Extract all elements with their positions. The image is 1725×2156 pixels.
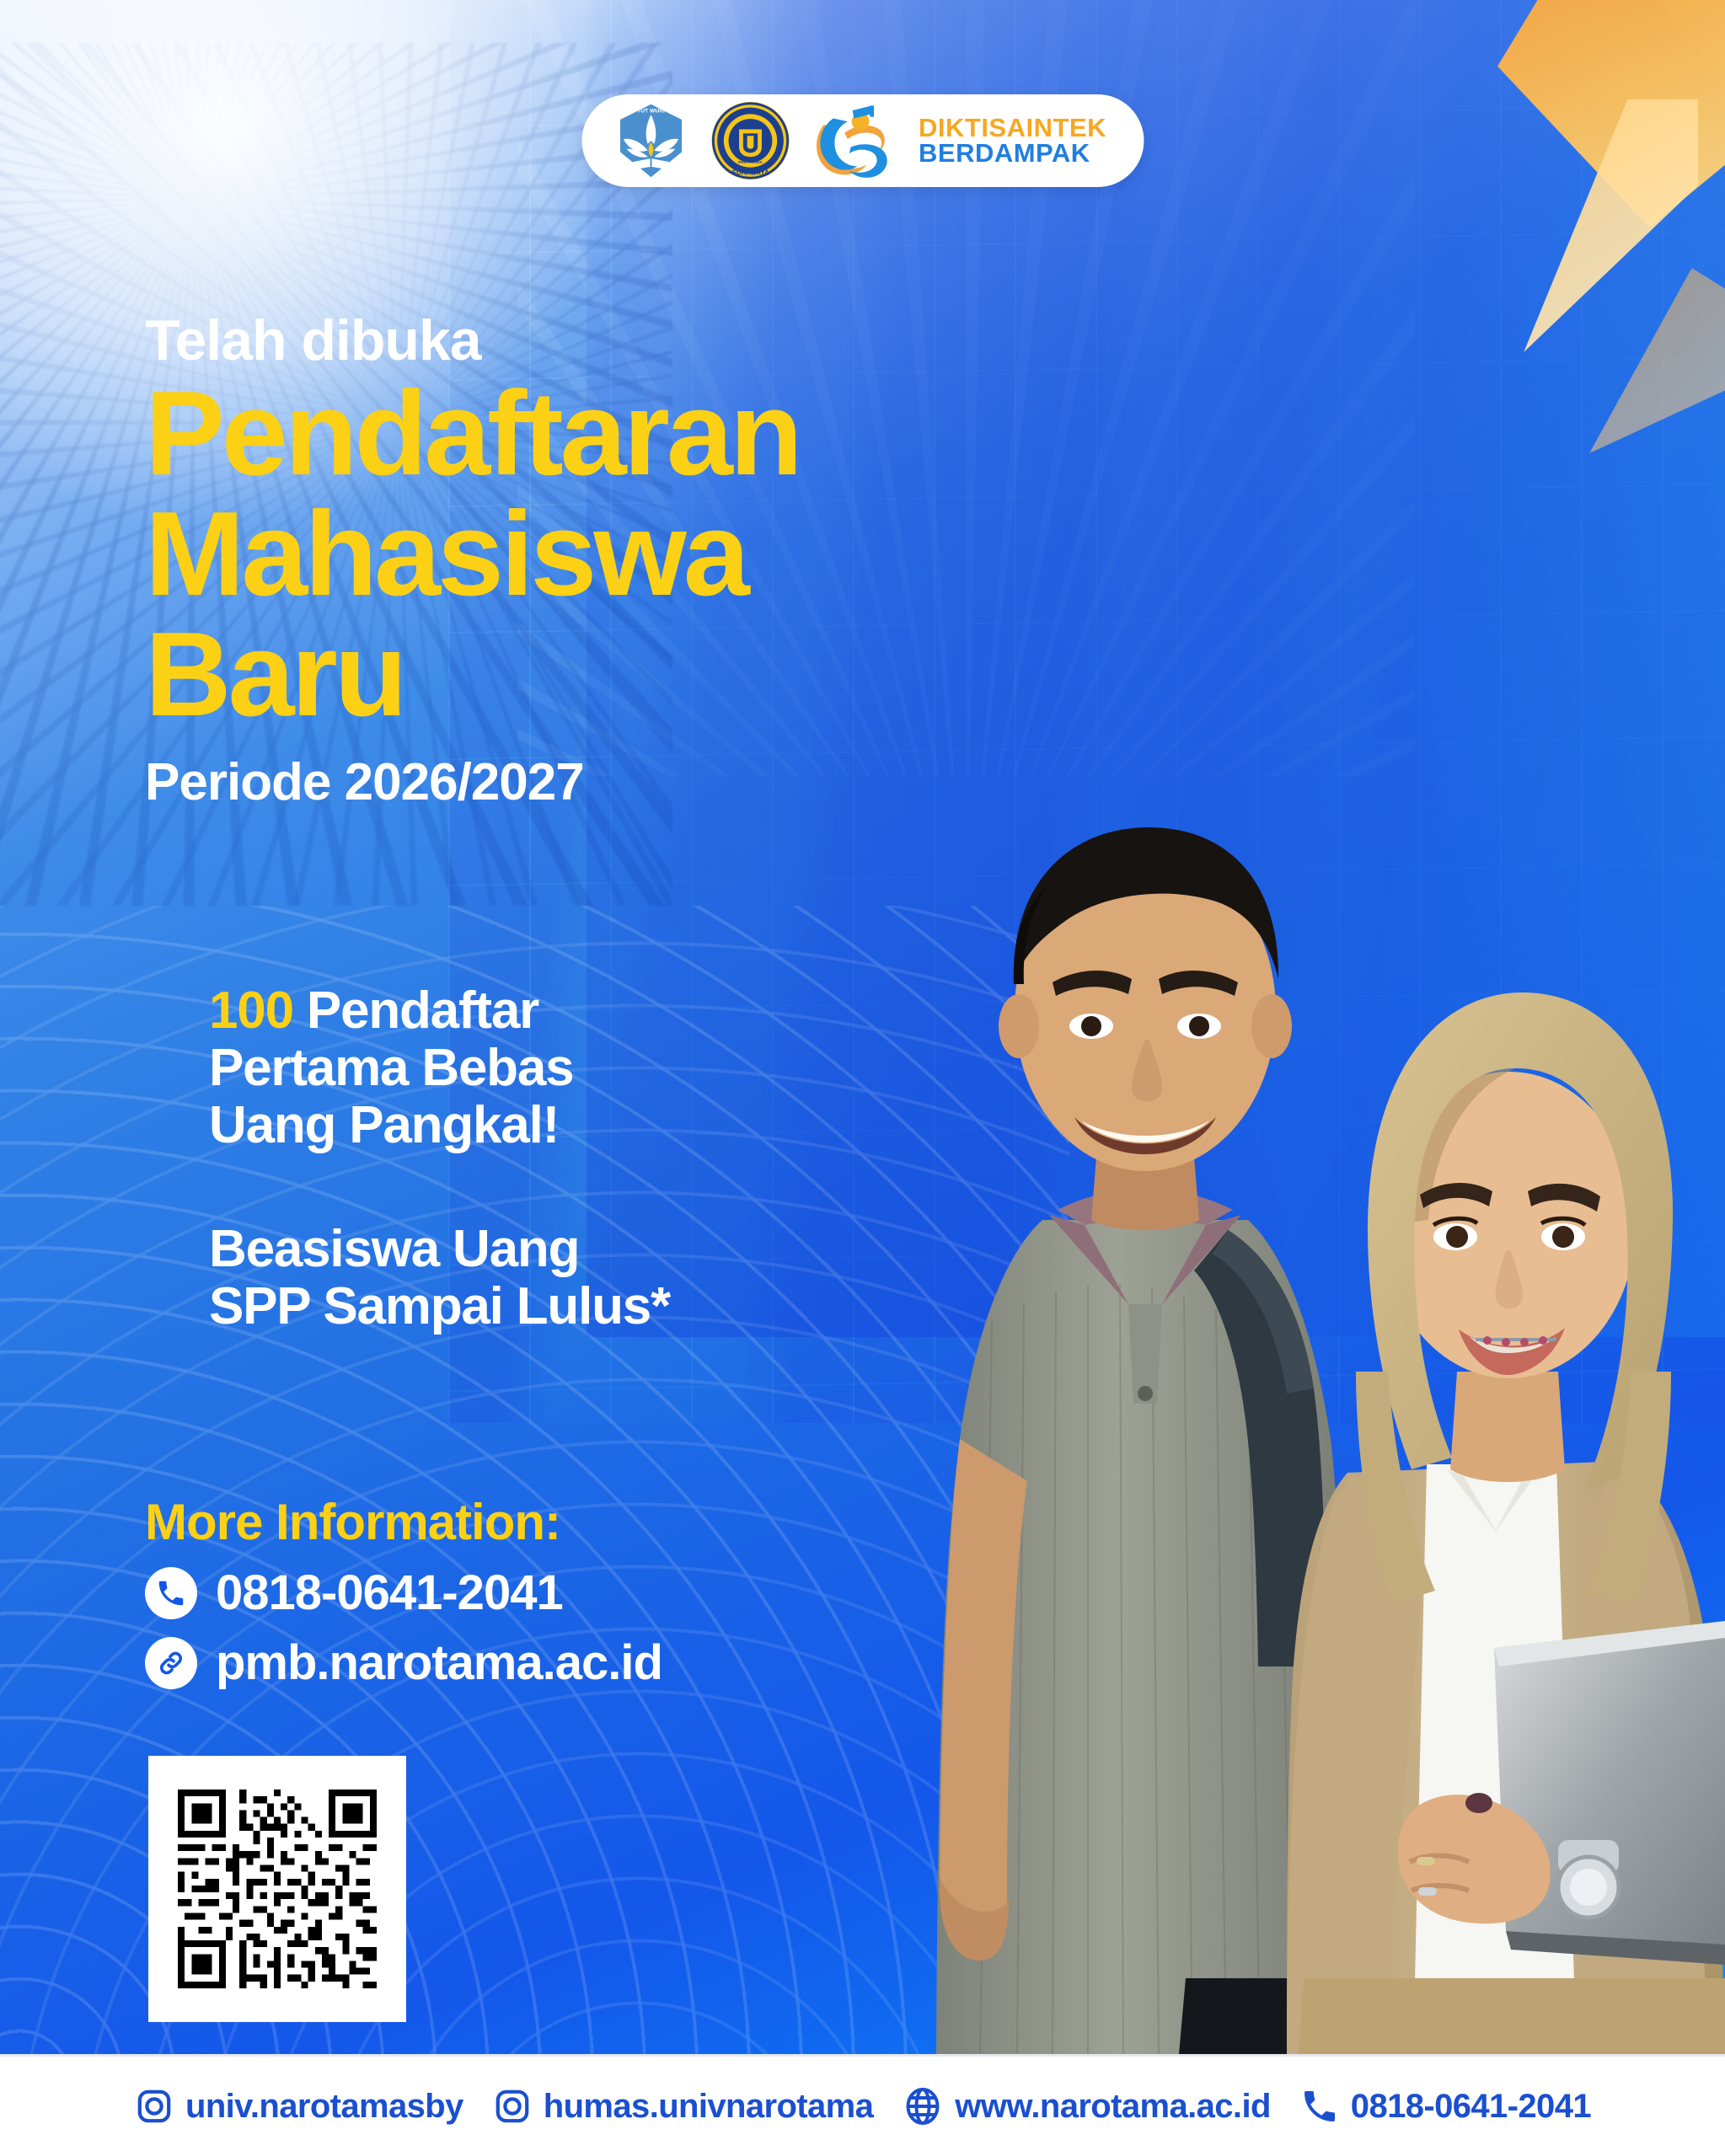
- globe-icon: [902, 2085, 944, 2127]
- link-icon: [145, 1637, 197, 1689]
- offer-spacer: [209, 1155, 849, 1221]
- svg-text:PRO PATRIA: PRO PATRIA: [738, 160, 763, 165]
- universitas-narotama-logo: SURABAYA PRO PATRIA: [710, 100, 790, 181]
- hero-headline-1: Pendaftaran: [145, 376, 1089, 491]
- offer-line-1: 100 Pendaftar: [209, 982, 849, 1040]
- footer-label-phone: 0818-0641-2041: [1351, 2088, 1591, 2126]
- qr-code-card[interactable]: [148, 1756, 406, 2022]
- footer-item-website[interactable]: www.narotama.ac.id: [902, 2085, 1271, 2127]
- hero-headline-3: Baru: [145, 617, 1089, 732]
- footer-label-website: www.narotama.ac.id: [955, 2088, 1271, 2126]
- contact-info-block: More Information: 0818-0641-2041 pmb.nar…: [145, 1493, 662, 1691]
- diktisaintek-wordmark: DIKTISAINTEK BERDAMPAK: [919, 115, 1106, 167]
- offer-count-suffix: Pendaftar: [293, 982, 538, 1040]
- instagram-icon: [134, 2086, 174, 2127]
- phone-icon: [1299, 2086, 1340, 2127]
- qr-code: [178, 1790, 377, 1988]
- wordmark-diktisaintek: DIKTISAINTEK: [919, 115, 1106, 141]
- footer-item-phone[interactable]: 0818-0641-2041: [1299, 2086, 1591, 2127]
- contact-website-row[interactable]: pmb.narotama.ac.id: [145, 1634, 662, 1691]
- offer-line-3: Uang Pangkal!: [209, 1097, 849, 1154]
- contact-website-url: pmb.narotama.ac.id: [216, 1634, 662, 1691]
- students-photo: [832, 630, 1725, 2054]
- footer-item-instagram-univ[interactable]: univ.narotamasby: [134, 2086, 463, 2127]
- contact-phone-row[interactable]: 0818-0641-2041: [145, 1565, 662, 1621]
- social-footer-bar: univ.narotamasby humas.univnarotama www.…: [0, 2054, 1725, 2156]
- contact-phone-number: 0818-0641-2041: [216, 1565, 563, 1621]
- wordmark-berdampak: BERDAMPAK: [919, 141, 1106, 166]
- svg-text:SURABAYA: SURABAYA: [731, 169, 769, 176]
- contact-info-title: More Information:: [145, 1493, 662, 1551]
- admission-poster: TUT WURI SURABAYA PRO PATRIA DIKTISAINTE…: [0, 0, 1725, 2156]
- hero-copy: Telah dibuka Pendaftaran Mahasiswa Baru …: [145, 310, 1089, 812]
- offers-block: 100 Pendaftar Pertama Bebas Uang Pangkal…: [209, 982, 849, 1335]
- institution-logo-badge: TUT WURI SURABAYA PRO PATRIA DIKTISAINTE…: [581, 94, 1144, 187]
- instagram-icon: [492, 2086, 533, 2127]
- footer-label-instagram-humas: humas.univnarotama: [544, 2088, 874, 2126]
- hero-period: Periode 2026/2027: [145, 752, 1089, 812]
- offer-line-4: Beasiswa Uang: [209, 1221, 849, 1278]
- tut-wuri-handayani-logo: TUT WURI: [610, 100, 691, 181]
- offer-line-2: Pertama Bebas: [209, 1040, 849, 1097]
- footer-item-instagram-humas[interactable]: humas.univnarotama: [492, 2086, 874, 2127]
- offer-line-5: SPP Sampai Lulus*: [209, 1278, 849, 1335]
- diktisaintek-figure-logo: [809, 100, 897, 181]
- phone-icon: [145, 1567, 197, 1619]
- offer-count: 100: [209, 982, 293, 1040]
- svg-text:TUT WURI: TUT WURI: [637, 108, 665, 114]
- footer-label-instagram-univ: univ.narotamasby: [185, 2088, 463, 2126]
- hero-kicker: Telah dibuka: [145, 310, 1089, 371]
- hero-headline-2: Mahasiswa: [145, 496, 1089, 612]
